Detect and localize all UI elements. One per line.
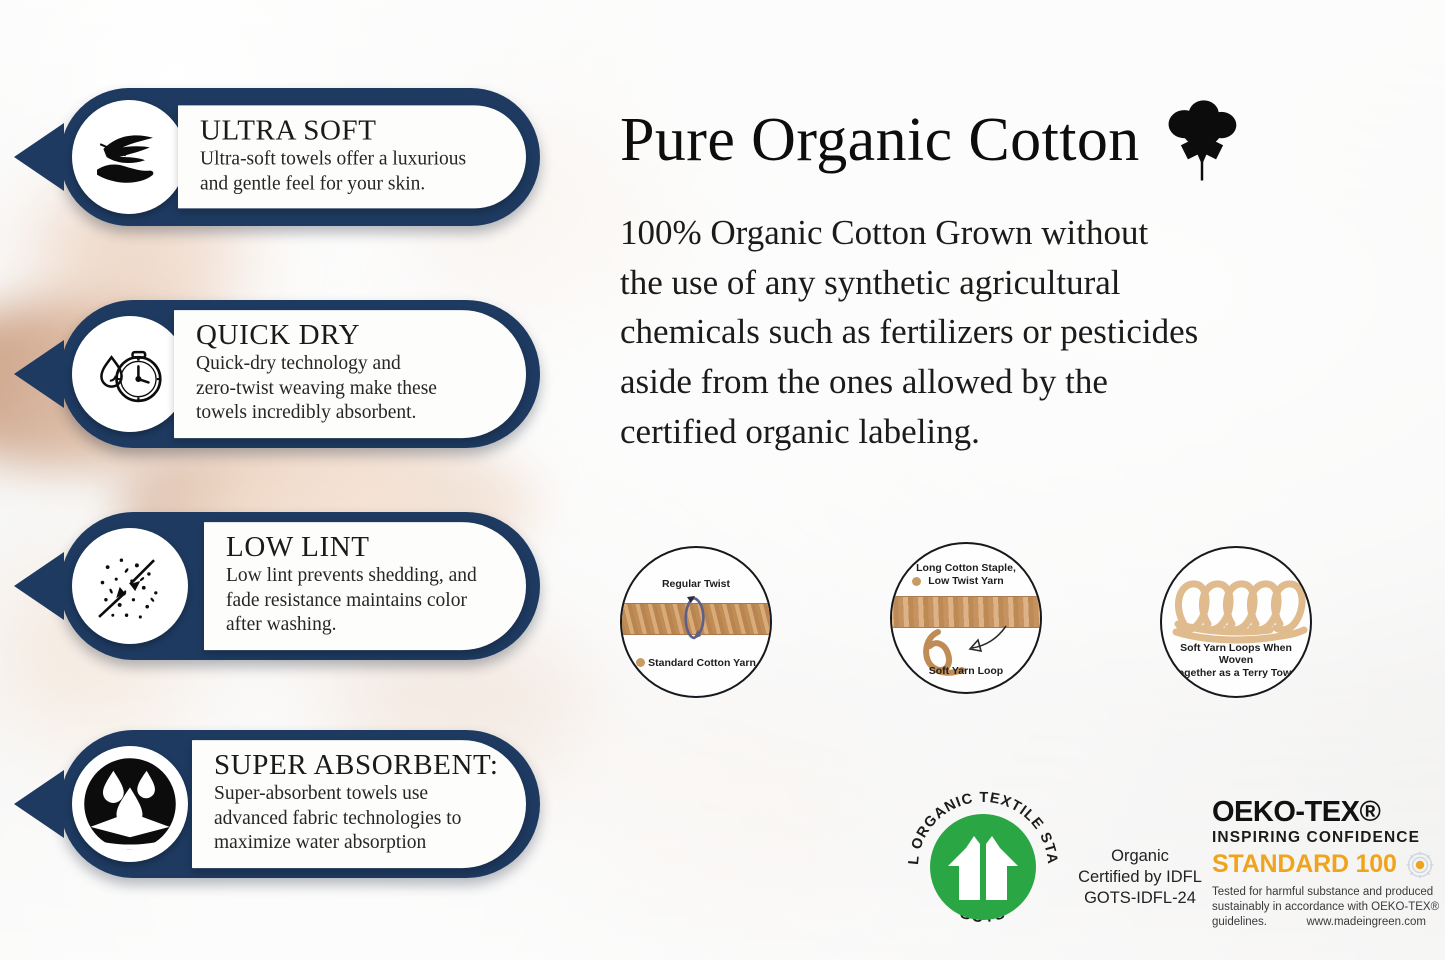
stopwatch-droplet-icon [72,316,188,432]
twist-arrow-icon [674,592,714,644]
feature-description: Super-absorbent towels use advanced fabr… [214,782,480,856]
made-in-green-sun-icon [1405,850,1435,880]
oeko-tex-block: OEKO-TEX® INSPIRING CONFIDENCE STANDARD … [1212,798,1444,931]
oeko-brand: OEKO-TEX® [1212,798,1444,827]
card-tail [14,340,64,408]
oeko-tagline: INSPIRING CONFIDENCE [1212,830,1444,846]
feature-text-panel: SUPER ABSORBENT: Super-absorbent towels … [192,740,526,868]
certification-strip: GLOBAL ORGANIC TEXTILE STANDARD · GOTS ·… [612,780,1445,960]
card-tail [14,770,64,838]
lint-particles-arrows-icon [72,528,188,644]
feature-card-super-absorbent[interactable]: SUPER ABSORBENT: Super-absorbent towels … [0,730,540,878]
feature-description: Quick-dry technology and zero-twist weav… [196,352,480,426]
cotton-boll-icon [1156,96,1248,184]
feather-in-hand-icon [72,100,186,214]
headline-row: Pure Organic Cotton [620,96,1248,184]
feature-text-panel: LOW LINT Low lint prevents shedding, and… [204,522,526,650]
yarn-bottom-label: Soft Yarn Loops When Woven Together as a… [1162,642,1310,680]
page-title: Pure Organic Cotton [620,109,1140,171]
terry-towel-loops-diagram: Soft Yarn Loops When Woven Together as a… [1160,546,1312,698]
yarn-top-label: Long Cotton Staple, Low Twist Yarn [892,562,1040,588]
water-drops-fabric-icon [72,746,188,862]
feature-text-panel: QUICK DRY Quick-dry technology and zero-… [174,310,526,438]
feature-title: SUPER ABSORBENT: [214,750,480,780]
yarn-bottom-label: Soft Yarn Loop [892,665,1040,678]
oeko-fine-print: Tested for harmful substance and produce… [1212,885,1444,931]
feature-title: ULTRA SOFT [200,115,480,145]
yarn-color-dot [636,658,645,667]
yarn-top-label: Regular Twist [622,578,770,591]
feature-card-quick-dry[interactable]: QUICK DRY Quick-dry technology and zero-… [0,300,540,448]
feature-card-low-lint[interactable]: LOW LINT Low lint prevents shedding, and… [0,512,540,660]
regular-twist-diagram: Regular Twist Standard Cotton Yarn [620,546,772,698]
card-tail [14,552,64,620]
feature-text-panel: ULTRA SOFT Ultra-soft towels offer a lux… [178,105,526,208]
yarn-diagram-group: Regular Twist Standard Cotton Yarn Long … [612,542,1445,722]
yarn-color-dot [912,577,921,586]
terry-loops-icon [1168,568,1312,648]
feature-description: Ultra-soft towels offer a luxurious and … [200,148,480,197]
gots-shirt-arrows-icon [930,814,1036,920]
low-twist-yarn-diagram: Long Cotton Staple, Low Twist Yarn Soft … [890,542,1042,694]
right-column: Pure Organic Cotton 100% Organic Cotton … [612,0,1445,960]
pointer-arrow-icon [964,622,1010,656]
gots-badge: GLOBAL ORGANIC TEXTILE STANDARD · GOTS · [900,784,1066,950]
feature-card-ultra-soft[interactable]: ULTRA SOFT Ultra-soft towels offer a lux… [0,88,540,226]
oeko-standard: STANDARD 100 [1212,852,1397,877]
infographic-canvas: ULTRA SOFT Ultra-soft towels offer a lux… [0,0,1445,960]
card-tail [14,123,64,191]
yarn-bottom-label: Standard Cotton Yarn [622,657,770,670]
oeko-website: www.madeingreen.com [1306,915,1426,930]
feature-card-list: ULTRA SOFT Ultra-soft towels offer a lux… [0,0,600,960]
feature-title: LOW LINT [226,532,480,562]
body-paragraph: 100% Organic Cotton Grown without the us… [620,208,1420,456]
feature-description: Low lint prevents shedding, and fade res… [226,564,480,638]
idfl-certification-text: Organic Certified by IDFL GOTS-IDFL-24 [1060,846,1220,908]
feature-title: QUICK DRY [196,320,480,350]
